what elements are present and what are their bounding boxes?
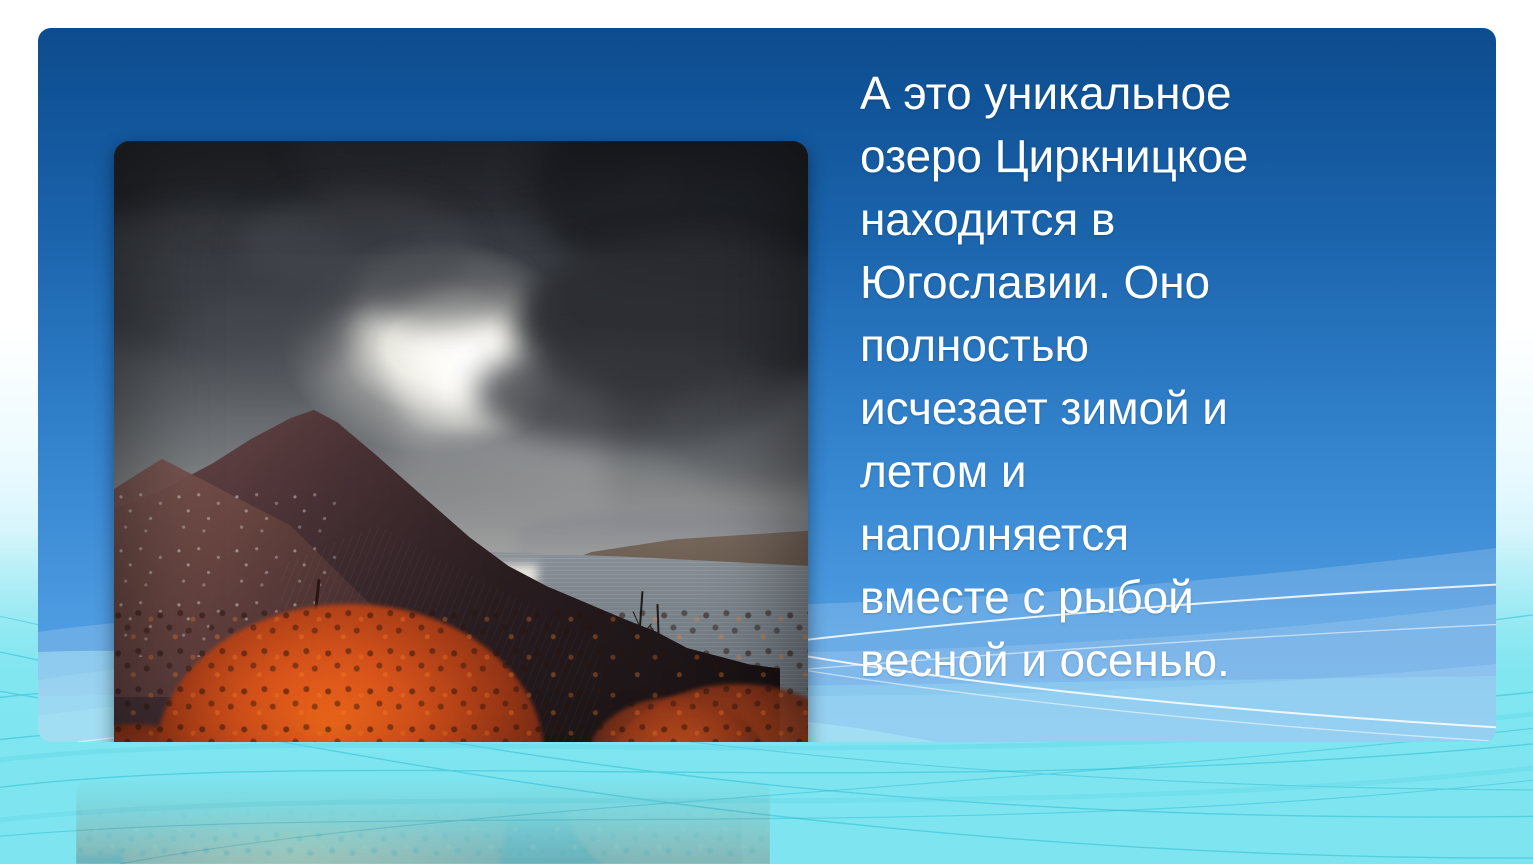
photo-leaf-texture (114, 604, 808, 742)
lake-photo[interactable] (114, 141, 808, 742)
photo-cloud-8 (170, 300, 350, 379)
photo-cloud-10 (364, 260, 517, 326)
slide-body-text[interactable]: А это уникальное озеро Циркницкое находи… (860, 62, 1280, 692)
slide-canvas: А это уникальное озеро Циркницкое находи… (0, 0, 1533, 864)
photo-stage (114, 141, 808, 742)
